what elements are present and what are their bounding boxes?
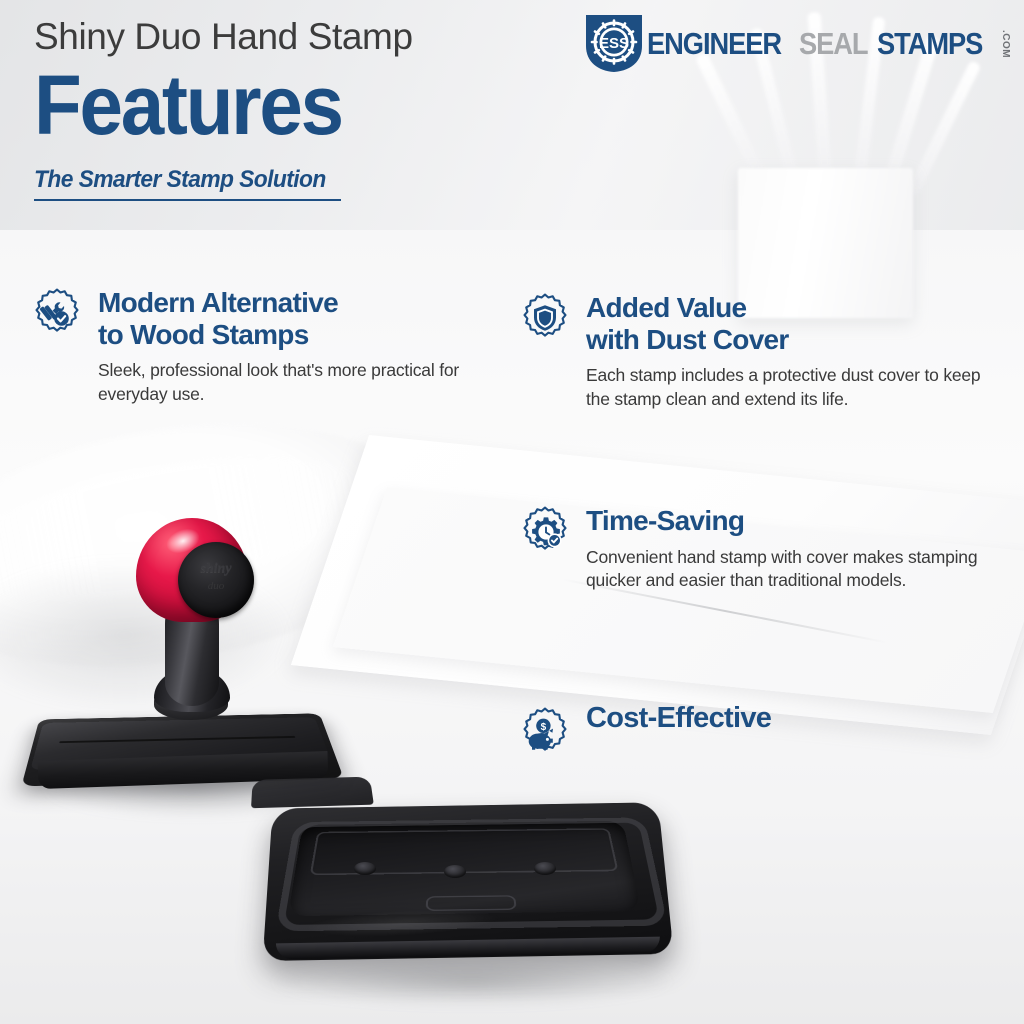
feature-body: Cost-Effective (586, 700, 771, 735)
feature-body: Time-Saving Convenient hand stamp with c… (586, 503, 998, 593)
feature-title-line2: with Dust Cover (586, 324, 789, 355)
hand-stamp-brand-text: shiny (192, 562, 240, 577)
hand-stamp-brand-subtext: duo (192, 580, 240, 592)
page-subtitle: The Smarter Stamp Solution (34, 166, 326, 194)
page-title: Features (34, 67, 927, 144)
wordmark-stamps: STAMPS (877, 28, 982, 59)
wordmark-seal: SEAL (799, 28, 868, 59)
brand-logo[interactable]: ESS ENGINEER SEAL STAMPS .COM (583, 12, 1011, 74)
feature-title: Added Value with Dust Cover (586, 292, 789, 355)
dust-cover-boss-1 (354, 862, 376, 875)
feature-title-line1: Modern Alternative (98, 287, 338, 318)
wordmark-domain: .COM (1000, 30, 1011, 58)
subtitle-underline (34, 199, 341, 201)
ess-gear-shield-icon: ESS (583, 12, 645, 74)
feature-body: Modern Alternative to Wood Stamps Sleek,… (98, 285, 500, 407)
feature-title: Modern Alternative to Wood Stamps (98, 287, 338, 350)
svg-text:$: $ (541, 722, 547, 733)
feature-title: Cost-Effective (586, 702, 771, 734)
piggy-bank-dollar-badge-icon: $ (518, 706, 572, 760)
subtitle-wrap: The Smarter Stamp Solution (34, 166, 341, 201)
wordmark-engineer: ENGINEER (647, 28, 781, 59)
tools-check-badge-icon (30, 287, 84, 341)
shield-badge-icon (518, 292, 572, 346)
feature-description: Convenient hand stamp with cover makes s… (586, 546, 998, 593)
dust-cover-boss-2 (444, 865, 466, 878)
feature-modern-alternative: Modern Alternative to Wood Stamps Sleek,… (30, 285, 500, 407)
feature-title-line1: Added Value (586, 292, 746, 323)
feature-cost-effective: $ Cost-Effective (518, 700, 988, 760)
feature-body: Added Value with Dust Cover Each stamp i… (586, 290, 988, 412)
svg-text:ESS: ESS (599, 35, 629, 52)
dust-cover-boss-3 (534, 862, 556, 875)
dust-cover-product-photo (262, 790, 692, 1000)
feature-time-saving: Time-Saving Convenient hand stamp with c… (518, 503, 998, 593)
feature-title: Time-Saving (586, 505, 744, 536)
feature-title-line2: to Wood Stamps (98, 319, 309, 350)
brand-wordmark: ENGINEER SEAL STAMPS .COM (647, 28, 1011, 59)
feature-description: Sleek, professional look that's more pra… (98, 359, 500, 406)
dust-cover-shadow (272, 958, 672, 1006)
infographic-canvas: Shiny Duo Hand Stamp Features The Smarte… (0, 0, 1024, 1024)
gear-clock-check-badge-icon (518, 505, 572, 559)
feature-description: Each stamp includes a protective dust co… (586, 364, 988, 411)
feature-added-value: Added Value with Dust Cover Each stamp i… (518, 290, 988, 412)
